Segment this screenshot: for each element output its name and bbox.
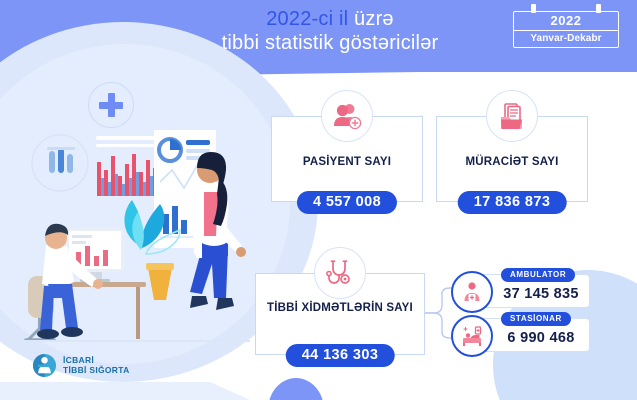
stat-card-value: 17 836 873 <box>458 191 567 214</box>
calendar-badge: 2022 Yanvar-Dekabr <box>513 4 619 48</box>
stat-card-value: 4 557 008 <box>297 191 397 214</box>
calendar-rings-icon <box>513 4 619 11</box>
hospital-bed-icon <box>451 315 493 357</box>
page-title: 2022-ci il üzrə tibbi statistik göstəric… <box>150 8 510 55</box>
calendar-year: 2022 <box>514 12 618 31</box>
subcard-value: 6 990 468 <box>499 330 583 346</box>
stat-card-patients[interactable]: PASİYENT SAYI 4 557 008 <box>271 116 423 202</box>
subcard-value: 37 145 835 <box>499 286 583 302</box>
stat-card-value: 44 136 303 <box>286 344 395 367</box>
background-strip-bottom-left <box>0 382 250 400</box>
stat-card-label: PASİYENT SAYI <box>278 155 416 169</box>
stethoscope-icon <box>314 247 366 299</box>
subcard-badge: STASİONAR <box>501 312 571 326</box>
patient-person-icon <box>451 271 493 313</box>
subcard-badge: AMBULATOR <box>501 268 575 282</box>
doctors-analytics-illustration <box>20 118 250 358</box>
logo-mark-icon <box>32 353 57 378</box>
stat-card-label: MÜRACİƏT SAYI <box>443 155 581 169</box>
calendar-range: Yanvar-Dekabr <box>514 31 618 47</box>
stat-card-requests[interactable]: MÜRACİƏT SAYI 17 836 873 <box>436 116 588 202</box>
subcard-ambulator[interactable]: AMBULATOR 37 145 835 <box>466 274 590 308</box>
infographic-root: 2022-ci il üzrə tibbi statistik göstəric… <box>0 0 637 400</box>
page-title-year: 2022-ci il <box>266 8 348 30</box>
page-subtitle: tibbi statistik göstəricilər <box>150 32 510 56</box>
add-user-icon <box>321 90 373 142</box>
subcard-stasionar[interactable]: STASİONAR 6 990 468 <box>466 318 590 352</box>
stat-card-services[interactable]: TİBBİ XİDMƏTLƏRİN SAYI 44 136 303 <box>255 273 425 355</box>
page-title-suffix: üzrə <box>354 8 394 30</box>
folder-document-icon <box>486 90 538 142</box>
logo-text: İCBARİ TİBBİ SIĞORTA <box>63 356 130 376</box>
stat-card-label: TİBBİ XİDMƏTLƏRİN SAYI <box>262 301 418 315</box>
logo-line-2: TİBBİ SIĞORTA <box>63 366 130 376</box>
logo: İCBARİ TİBBİ SIĞORTA <box>32 353 130 378</box>
